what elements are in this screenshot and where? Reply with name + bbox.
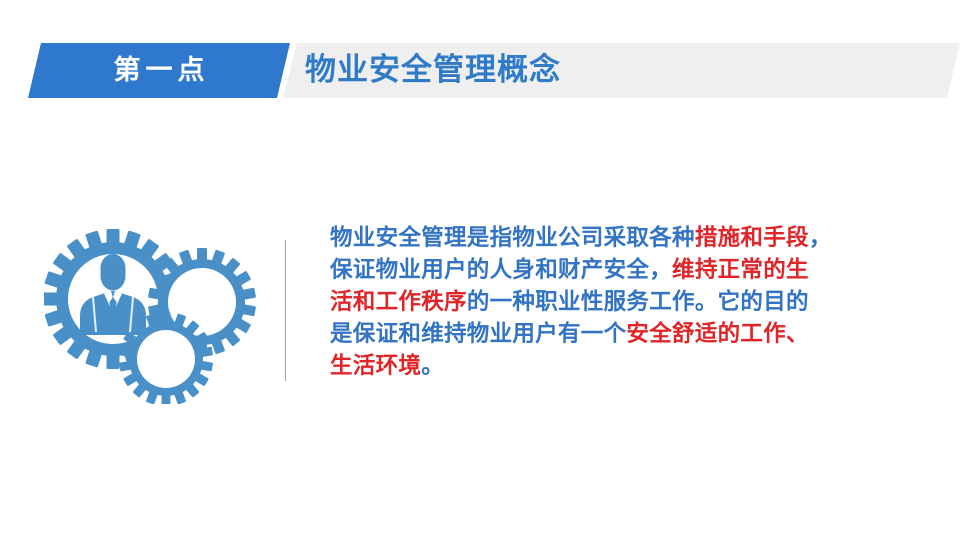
body-segment: 是保证和维持物业用户有一个 [330,321,626,347]
body-segment: 保证物业用户的人身和财产安全， [330,257,672,283]
body-line: 物业安全管理是指物业公司采取各种措施和手段， [330,222,930,254]
body-segment-highlight: 安全舒适的工作、 [626,321,808,347]
body-segment: 。 [421,353,444,379]
gears-with-businessman-icon [44,222,258,404]
body-segment-highlight: 措施和 [695,225,763,251]
body-line: 生活环境。 [330,350,930,382]
slide-root: 第一点 物业安全管理概念 [0,0,960,540]
body-paragraph: 物业安全管理是指物业公司采取各种措施和手段， 保证物业用户的人身和财产安全，维持… [330,222,930,382]
body-segment: 物业安全管理是指物业公司采取各种 [330,225,695,251]
body-line: 是保证和维持物业用户有一个安全舒适的工作、 [330,318,930,350]
vertical-divider [285,240,286,381]
body-segment-highlight: 手段 [763,225,809,251]
slide-content: 物业安全管理是指物业公司采取各种措施和手段， 保证物业用户的人身和财产安全，维持… [0,0,960,540]
body-line: 活和工作秩序的一种职业性服务工作。它的目的 [330,286,930,318]
body-segment: 的一种职业性服务工作。它的目的 [467,289,809,315]
body-segment-highlight: 维持正常的生 [672,257,809,283]
small-gear [119,312,213,404]
body-segment: ， [809,225,832,251]
body-segment-highlight: 活和工作秩序 [330,289,467,315]
body-segment-highlight: 生活环境 [330,353,421,379]
body-line: 保证物业用户的人身和财产安全，维持正常的生 [330,254,930,286]
